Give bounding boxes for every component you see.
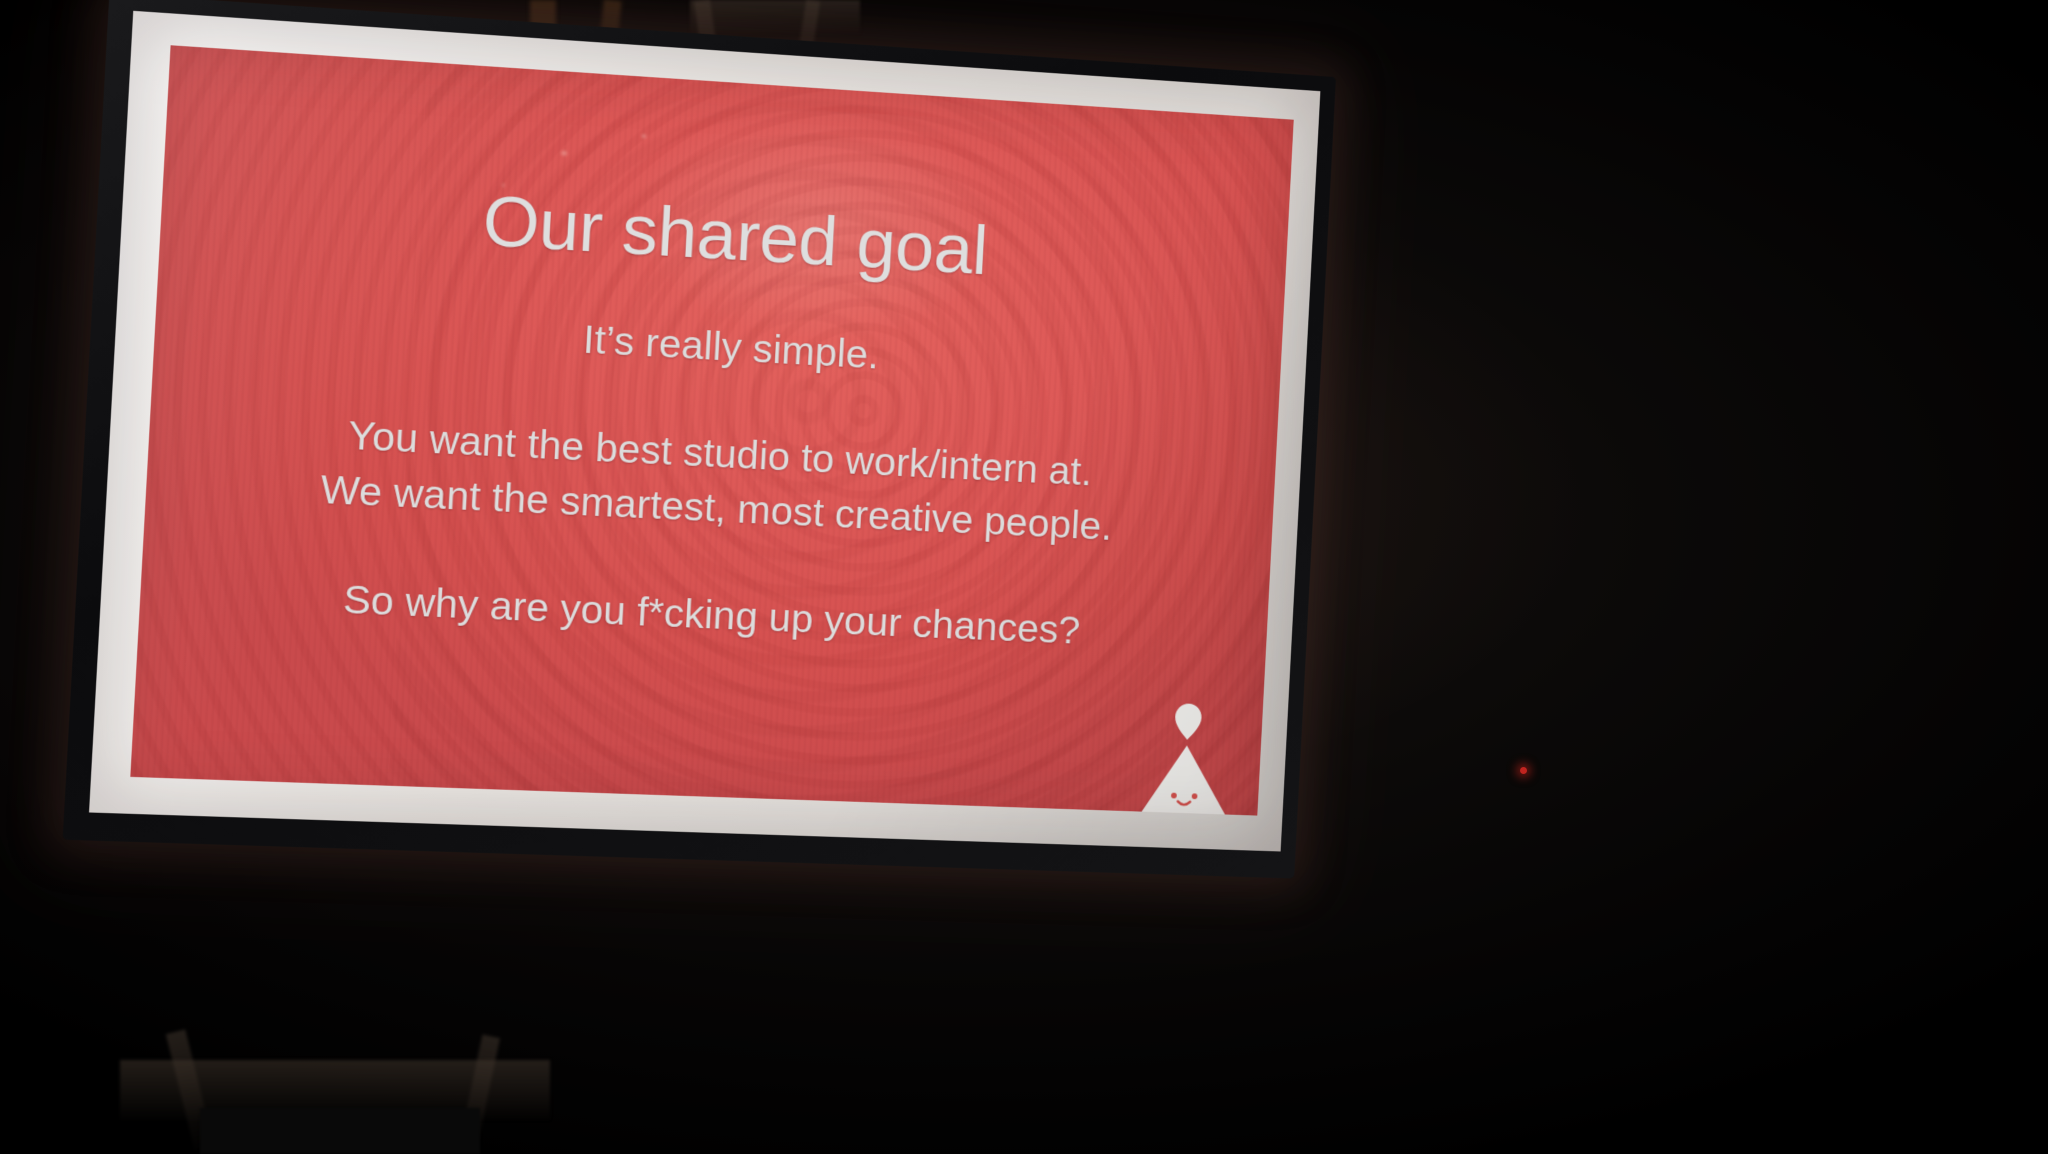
slide-outer-frame: Our shared goal It’s really simple. You … <box>89 11 1320 852</box>
screen-surface[interactable]: Our shared goal It’s really simple. You … <box>89 11 1320 852</box>
display-perspective-wrapper: Our shared goal It’s really simple. You … <box>0 0 2048 1154</box>
television-screen[interactable]: Our shared goal It’s really simple. You … <box>63 0 1336 879</box>
moire-pattern-secondary <box>364 45 1294 815</box>
moire-pattern <box>130 45 1294 815</box>
slide-title: Our shared goal <box>481 185 989 286</box>
display-bezel: Our shared goal It’s really simple. You … <box>63 0 1336 879</box>
slide-body-line-2: We want the smartest, most creative peop… <box>319 462 1113 554</box>
projector-hotspot <box>619 90 1011 354</box>
dust-speck <box>561 151 567 156</box>
screen-vignette <box>89 11 1320 852</box>
mountain-mascot-logo-icon <box>1141 698 1231 815</box>
scanline-overlay <box>130 45 1294 815</box>
slide-text-content: Our shared goal It’s really simple. You … <box>130 45 1294 815</box>
dust-speck <box>501 183 505 187</box>
screen-glare <box>89 11 1320 852</box>
slide-subtitle: It’s really simple. <box>582 319 880 375</box>
slide-body-paragraph: You want the best studio to work/intern … <box>319 407 1116 554</box>
dust-speck <box>641 134 646 138</box>
slide-canvas: Our shared goal It’s really simple. You … <box>130 45 1294 815</box>
slide-body-line-1: You want the best studio to work/intern … <box>322 407 1116 500</box>
slide-question-line: So why are you f*cking up your chances? <box>342 580 1081 651</box>
